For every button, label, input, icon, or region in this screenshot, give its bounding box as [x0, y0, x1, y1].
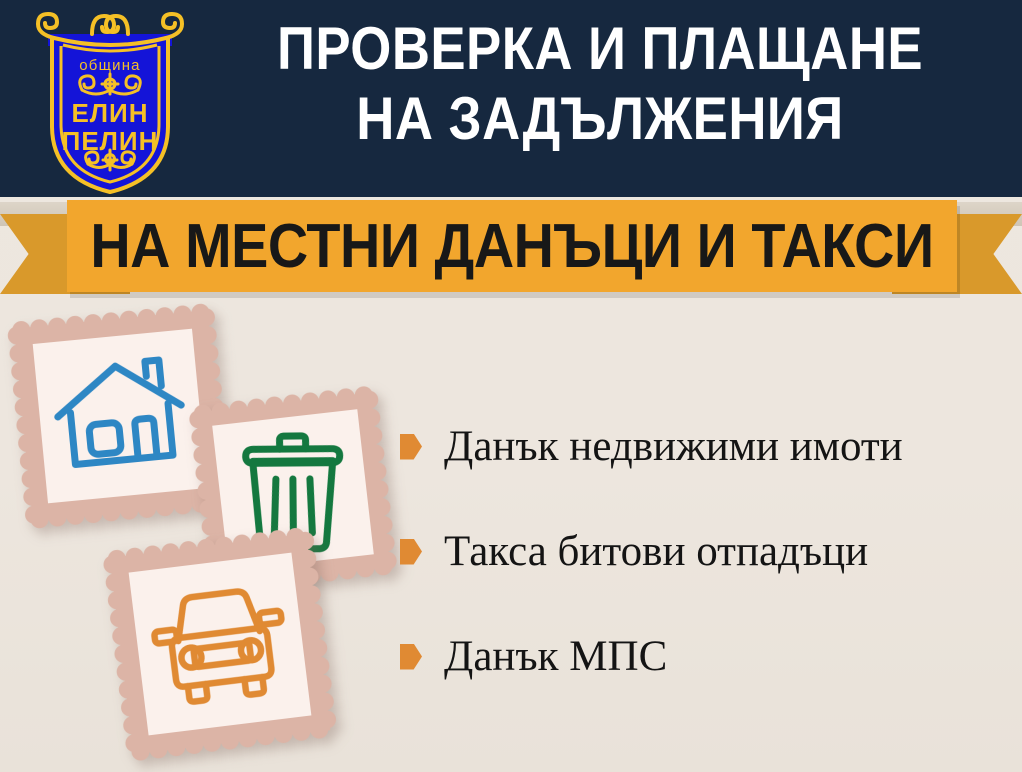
list-item-label: Данък МПС: [444, 635, 667, 678]
tax-types-list: Данък недвижими имоти Такса битови отпад…: [400, 425, 1010, 740]
ribbon-subtitle: НА МЕСТНИ ДАНЪЦИ И ТАКСИ: [112, 200, 913, 292]
logo-line-1: ЕЛИН: [71, 98, 148, 128]
arrow-bullet-icon: [400, 434, 422, 460]
stamp-card-vehicle: [100, 524, 341, 765]
list-item-label: Данък недвижими имоти: [444, 425, 903, 468]
logo-municipality-word: община: [79, 57, 140, 74]
poster-canvas: ПРОВЕРКА И ПЛАЩАНЕ НА ЗАДЪЛЖЕНИЯ община: [0, 0, 1022, 772]
coat-of-arms-logo: община ЕЛИН ПЕЛИН: [30, 8, 190, 194]
page-title: ПРОВЕРКА И ПЛАЩАНЕ НА ЗАДЪЛЖЕНИЯ: [239, 14, 961, 154]
list-item[interactable]: Данък МПС: [400, 635, 1010, 678]
arrow-bullet-icon: [400, 539, 422, 565]
list-item[interactable]: Данък недвижими имоти: [400, 425, 1010, 468]
list-item-label: Такса битови отпадъци: [444, 530, 868, 573]
list-item[interactable]: Такса битови отпадъци: [400, 530, 1010, 573]
ribbon-banner: НА МЕСТНИ ДАНЪЦИ И ТАКСИ: [0, 196, 1022, 306]
arrow-bullet-icon: [400, 644, 422, 670]
